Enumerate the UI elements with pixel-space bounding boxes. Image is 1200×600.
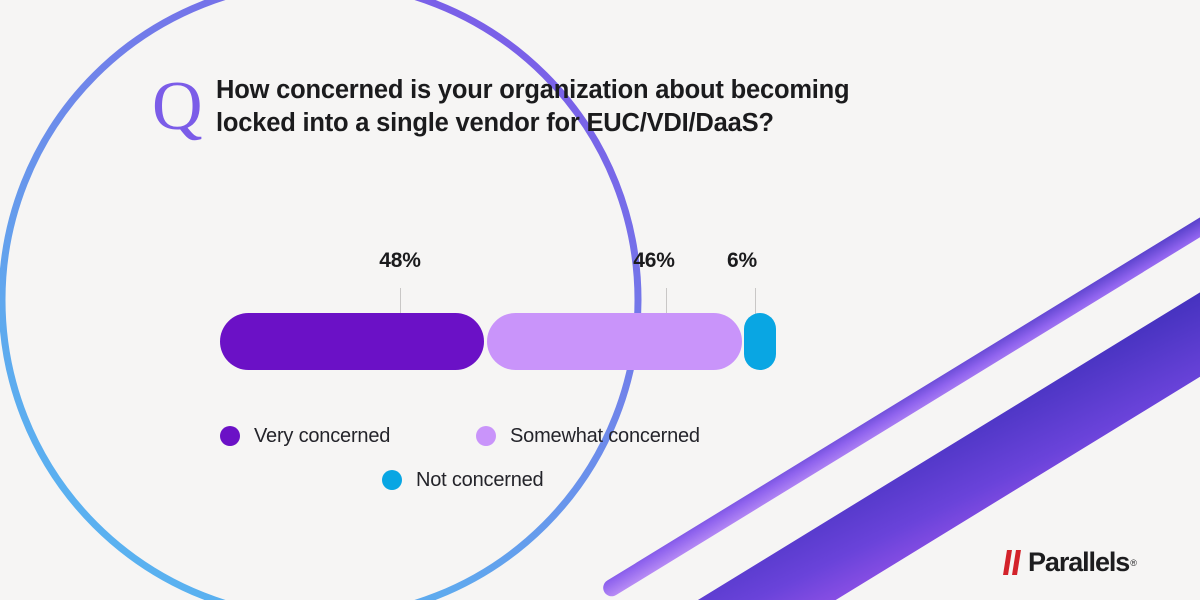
value-label-somewhat-concerned: 46% <box>633 249 674 273</box>
leader-line-not-concerned <box>755 288 756 315</box>
legend-swatch-icon-somewhat-concerned <box>476 426 496 446</box>
value-label-very-concerned: 48% <box>379 249 420 273</box>
value-label-not-concerned: 6% <box>727 249 757 273</box>
legend-item-not-concerned[interactable]: Not concerned <box>382 469 543 492</box>
bar-segment-somewhat-concerned <box>487 313 742 370</box>
legend-label-somewhat-concerned: Somewhat concerned <box>510 425 700 448</box>
legend-label-very-concerned: Very concerned <box>254 425 390 448</box>
legend-row-2: Not concerned <box>220 458 860 502</box>
bar-segment-very-concerned <box>220 313 484 370</box>
legend-item-somewhat-concerned[interactable]: Somewhat concerned <box>476 425 700 448</box>
legend-item-very-concerned[interactable]: Very concerned <box>220 425 500 448</box>
parallels-wordmark: Parallels <box>1028 549 1129 576</box>
leader-line-very-concerned <box>400 288 401 315</box>
legend-label-not-concerned: Not concerned <box>416 469 543 492</box>
leader-line-somewhat-concerned <box>666 288 667 315</box>
parallels-bars-icon <box>1003 550 1023 575</box>
infographic-canvas: Q How concerned is your organization abo… <box>0 0 1200 600</box>
bar-segment-not-concerned <box>744 313 776 370</box>
legend-swatch-icon-not-concerned <box>382 470 402 490</box>
legend-swatch-icon-very-concerned <box>220 426 240 446</box>
chart-legend: Very concerned Somewhat concerned Not co… <box>220 414 860 502</box>
legend-row-1: Very concerned Somewhat concerned <box>220 414 860 458</box>
parallels-logo: Parallels ® <box>1003 549 1137 576</box>
stacked-bar-chart: 48% 46% 6% <box>0 0 1200 600</box>
registered-mark: ® <box>1130 558 1137 568</box>
